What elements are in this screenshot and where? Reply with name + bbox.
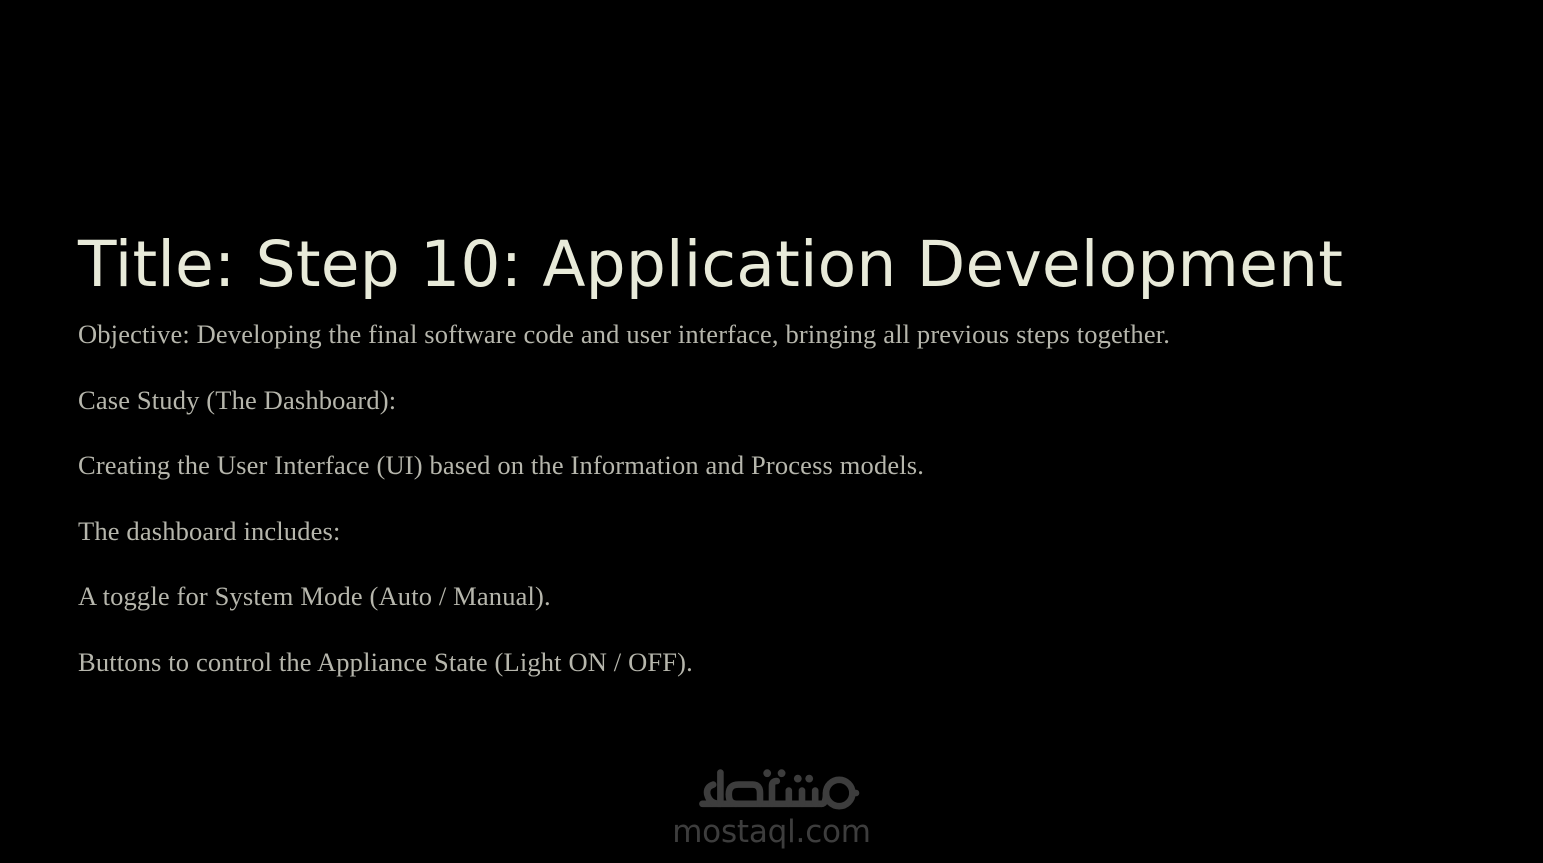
watermark-domain-text: mostaql.com	[672, 815, 871, 849]
body-paragraph-case-study: Case Study (The Dashboard):	[78, 384, 1378, 416]
body-paragraph-dashboard-includes: The dashboard includes:	[78, 515, 1378, 547]
body-paragraph-appliance-buttons: Buttons to control the Appliance State (…	[78, 646, 1378, 678]
body-paragraph-system-mode-toggle: A toggle for System Mode (Auto / Manual)…	[78, 580, 1378, 612]
slide-body: Objective: Developing the final software…	[78, 318, 1378, 678]
mostaql-logo-icon	[676, 757, 868, 817]
body-paragraph-objective: Objective: Developing the final software…	[78, 318, 1378, 350]
page-title: Title: Step 10: Application Development	[78, 230, 1343, 301]
body-paragraph-ui-creation: Creating the User Interface (UI) based o…	[78, 449, 1378, 481]
slide-canvas: Title: Step 10: Application Development …	[0, 0, 1543, 863]
watermark: mostaql.com	[0, 757, 1543, 849]
